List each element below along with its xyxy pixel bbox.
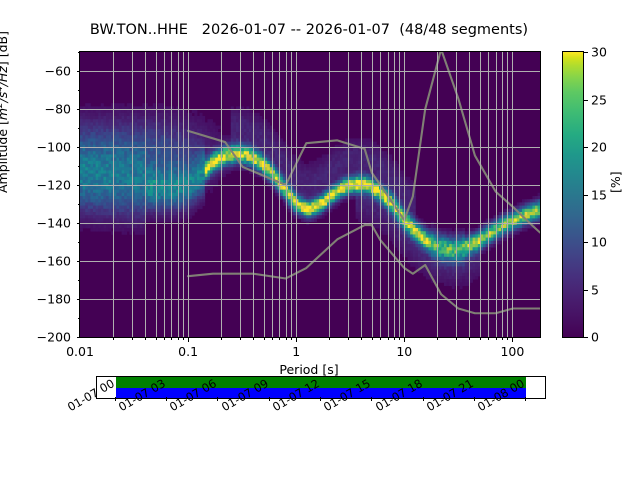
y-tick-major — [77, 261, 81, 262]
y-tick-minor — [78, 128, 80, 129]
colorbar-title: [%] — [608, 171, 623, 193]
ppsd-plot-area[interactable]: 0.010.1110100−60−80−100−120−140−160−180−… — [79, 51, 541, 338]
colorbar-tick-label: 15 — [591, 187, 607, 202]
grid-line-vertical — [512, 52, 513, 337]
x-tick-minor — [279, 338, 280, 340]
grid-line-vertical — [480, 52, 481, 337]
colorbar-tick-label: 30 — [591, 45, 607, 60]
grid-line-horizontal — [80, 185, 540, 186]
grid-line-vertical — [372, 52, 373, 337]
timeline-tick — [320, 397, 321, 401]
grid-line-vertical — [348, 52, 349, 337]
x-tick-major — [296, 338, 297, 342]
grid-line-vertical — [156, 52, 157, 337]
x-tick-minor — [480, 338, 481, 340]
y-tick-label: −100 — [37, 140, 71, 155]
y-tick-major — [77, 185, 81, 186]
grid-line-vertical — [132, 52, 133, 337]
x-tick-minor — [253, 338, 254, 340]
x-tick-minor — [380, 338, 381, 340]
x-tick-minor — [507, 338, 508, 340]
y-tick-major — [77, 299, 81, 300]
noise-model-lines — [80, 52, 540, 337]
timeline-tick — [115, 397, 116, 401]
y-tick-minor — [78, 318, 80, 319]
x-tick-minor — [388, 338, 389, 340]
x-tick-minor — [372, 338, 373, 340]
colorbar-tick-label: 10 — [591, 235, 607, 250]
x-tick-minor — [469, 338, 470, 340]
timeline-tick — [269, 397, 270, 401]
grid-line-vertical — [437, 52, 438, 337]
grid-line-horizontal — [80, 71, 540, 72]
y-tick-minor — [78, 52, 80, 53]
x-tick-label: 0.1 — [178, 344, 198, 359]
grid-line-vertical — [164, 52, 165, 337]
x-tick-major — [188, 338, 189, 342]
grid-line-vertical — [286, 52, 287, 337]
low-noise-model-line — [188, 225, 540, 313]
ppsd-figure: BW.TON..HHE 2026-01-07 -- 2026-01-07 (48… — [0, 0, 640, 480]
timeline-tick — [423, 397, 424, 401]
grid-line-vertical — [113, 52, 114, 337]
x-tick-label: 100 — [500, 344, 524, 359]
grid-line-vertical — [171, 52, 172, 337]
y-tick-major — [77, 71, 81, 72]
x-tick-minor — [272, 338, 273, 340]
grid-line-vertical — [404, 52, 405, 337]
grid-line-vertical — [272, 52, 273, 337]
y-tick-major — [77, 109, 81, 110]
timeline-tick — [166, 397, 167, 401]
colorbar-tick-label: 25 — [591, 92, 607, 107]
x-tick-minor — [399, 338, 400, 340]
x-tick-minor — [171, 338, 172, 340]
grid-line-horizontal — [80, 109, 540, 110]
x-tick-minor — [240, 338, 241, 340]
y-tick-minor — [78, 280, 80, 281]
grid-line-vertical — [502, 52, 503, 337]
grid-line-vertical — [380, 52, 381, 337]
grid-line-vertical — [253, 52, 254, 337]
colorbar-tick — [584, 242, 588, 243]
y-tick-major — [77, 147, 81, 148]
grid-line-vertical — [507, 52, 508, 337]
x-tick-minor — [502, 338, 503, 340]
x-tick-major — [404, 338, 405, 342]
grid-line-vertical — [188, 52, 189, 337]
x-tick-minor — [132, 338, 133, 340]
y-tick-minor — [78, 166, 80, 167]
x-tick-minor — [348, 338, 349, 340]
y-tick-label: −180 — [37, 292, 71, 307]
x-tick-label: 1 — [292, 344, 300, 359]
grid-line-vertical — [178, 52, 179, 337]
y-tick-label: −140 — [37, 216, 71, 231]
x-tick-minor — [291, 338, 292, 340]
grid-line-vertical — [394, 52, 395, 337]
colorbar-tick — [584, 100, 588, 101]
colorbar-tick-label: 0 — [591, 330, 599, 345]
grid-line-vertical — [329, 52, 330, 337]
x-tick-minor — [361, 338, 362, 340]
x-tick-label: 10 — [396, 344, 412, 359]
x-tick-label: 0.01 — [66, 344, 94, 359]
grid-line-vertical — [388, 52, 389, 337]
x-tick-minor — [437, 338, 438, 340]
timeline-tick — [525, 397, 526, 401]
y-tick-label: −60 — [45, 64, 71, 79]
x-tick-minor — [113, 338, 114, 340]
high-noise-model-line — [188, 52, 540, 233]
grid-line-horizontal — [80, 261, 540, 262]
x-tick-minor — [456, 338, 457, 340]
timeline-tick — [217, 397, 218, 401]
y-tick-label: −80 — [45, 102, 71, 117]
grid-line-vertical — [488, 52, 489, 337]
y-tick-minor — [78, 242, 80, 243]
x-tick-minor — [264, 338, 265, 340]
x-tick-major — [512, 338, 513, 342]
colorbar-tick — [584, 195, 588, 196]
y-axis-title: Amplitude [m2/s4/Hz] [dB] — [0, 31, 10, 193]
grid-line-vertical — [399, 52, 400, 337]
x-tick-minor — [394, 338, 395, 340]
y-tick-minor — [78, 204, 80, 205]
grid-line-vertical — [279, 52, 280, 337]
colorbar-tick — [584, 337, 588, 338]
grid-line-vertical — [456, 52, 457, 337]
x-tick-minor — [329, 338, 330, 340]
x-tick-minor — [178, 338, 179, 340]
colorbar: 051015202530 — [562, 51, 584, 338]
grid-line-vertical — [221, 52, 222, 337]
timeline-tick — [371, 397, 372, 401]
x-tick-minor — [286, 338, 287, 340]
colorbar-tick-label: 20 — [591, 140, 607, 155]
x-tick-minor — [496, 338, 497, 340]
grid-line-vertical — [183, 52, 184, 337]
figure-title: BW.TON..HHE 2026-01-07 -- 2026-01-07 (48… — [0, 22, 618, 38]
y-tick-major — [77, 223, 81, 224]
colorbar-tick — [584, 290, 588, 291]
y-tick-minor — [78, 90, 80, 91]
grid-line-vertical — [361, 52, 362, 337]
y-tick-label: −120 — [37, 178, 71, 193]
grid-line-horizontal — [80, 299, 540, 300]
x-axis-title: Period [s] — [79, 362, 539, 377]
colorbar-tick — [584, 52, 588, 53]
grid-line-vertical — [145, 52, 146, 337]
x-tick-minor — [156, 338, 157, 340]
grid-line-horizontal — [80, 147, 540, 148]
x-tick-minor — [183, 338, 184, 340]
x-tick-minor — [164, 338, 165, 340]
grid-line-vertical — [296, 52, 297, 337]
colorbar-tick — [584, 147, 588, 148]
grid-line-vertical — [496, 52, 497, 337]
x-tick-minor — [488, 338, 489, 340]
y-tick-major — [77, 337, 81, 338]
x-tick-minor — [145, 338, 146, 340]
grid-line-vertical — [291, 52, 292, 337]
timeline-tick — [474, 397, 475, 401]
grid-line-vertical — [240, 52, 241, 337]
grid-line-vertical — [469, 52, 470, 337]
y-tick-label: −200 — [37, 330, 71, 345]
grid-line-vertical — [264, 52, 265, 337]
grid-line-horizontal — [80, 223, 540, 224]
colorbar-tick-label: 5 — [591, 282, 599, 297]
x-tick-minor — [221, 338, 222, 340]
y-tick-label: −160 — [37, 254, 71, 269]
